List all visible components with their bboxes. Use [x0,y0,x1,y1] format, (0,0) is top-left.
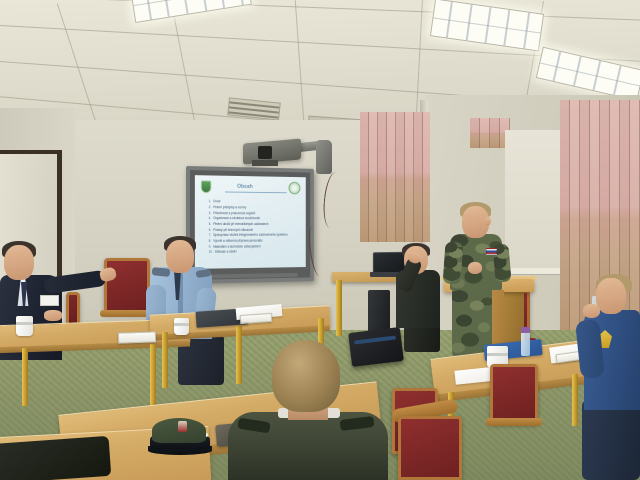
slide-bullet: 9.Materiální a technické zabezpečení [209,244,261,248]
equipment-bag[interactable] [348,327,404,367]
person-blue-uniform-head [596,278,626,314]
ceiling-light-fixture [430,0,544,51]
chair[interactable] [490,364,538,424]
water-bottle[interactable] [521,332,530,356]
slide-bullet: 10.Diskuse a závěr [209,250,237,254]
slide-title-rule [225,191,287,193]
slide-bullet: 4.Organizace a struktura součinnosti [209,216,260,220]
desk-leg [336,280,342,336]
window-blinds-back[interactable] [360,112,430,242]
presenter-ear [484,217,491,226]
chair[interactable] [104,258,150,314]
projector-bracket [252,160,278,166]
table-leg [236,326,242,384]
projector-mount-head [316,140,332,174]
coffee-cup[interactable] [174,318,189,335]
name-placard [118,331,156,343]
whiteboard-pen-tray [204,273,298,279]
projected-slide: Obsah 1.Úvod 2.Právní předpisy a normy 3… [195,175,306,269]
table-leg [162,332,168,388]
foreground-soldier-head [272,340,340,412]
coffee-cup[interactable] [16,316,33,336]
person-suit-hand-resting [44,310,62,321]
slide-bullet: 3.Působnost a pravomoci orgánů [209,211,256,215]
chair-frame [486,418,542,426]
person-blue-uniform-legs [582,400,640,480]
person-blue-uniform-hand [583,304,600,318]
cap-badge-icon [178,421,187,432]
ceiling-light-fixture [130,0,252,23]
presenter-left-arm [443,241,464,284]
projector-lens-icon [258,146,272,159]
slide-bullet: 6.Postup při krizových situacích [209,228,254,232]
presenter-hand [468,262,482,274]
ceiling-light-fixture [536,47,640,102]
crest-logo-icon [201,180,212,193]
table-leg [572,374,578,426]
chair[interactable] [398,416,462,480]
bottle-cap [521,327,530,333]
slide-bullet: 1.Úvod [209,200,221,204]
person-suit-head [4,245,34,280]
slide-bullet: 8.Výcvik a odborná příprava personálu [209,239,263,243]
window-opening [505,130,567,270]
slide-bullet: 5.Plnění úkolů při mimořádných událostec… [209,222,269,226]
interactive-whiteboard[interactable]: Obsah 1.Úvod 2.Právní předpisy a normy 3… [186,166,314,284]
foreground-chair-silhouette[interactable] [0,436,111,480]
slide-bullet: 2.Právní předpisy a normy [209,205,247,209]
table-leg [150,344,156,406]
emblem-logo-icon [289,181,301,194]
slide-bullet: 7.Spolupráce složek integrovaného záchra… [209,233,288,237]
table-leg [22,348,28,406]
officer-head [166,240,194,273]
name-badge [40,295,59,306]
flag-patch-icon [486,248,497,255]
slide-title: Obsah [237,183,253,189]
window-blinds-corner[interactable] [470,118,510,148]
conference-room-photo: Obsah 1.Úvod 2.Právní předpisy a normy 3… [0,0,640,480]
